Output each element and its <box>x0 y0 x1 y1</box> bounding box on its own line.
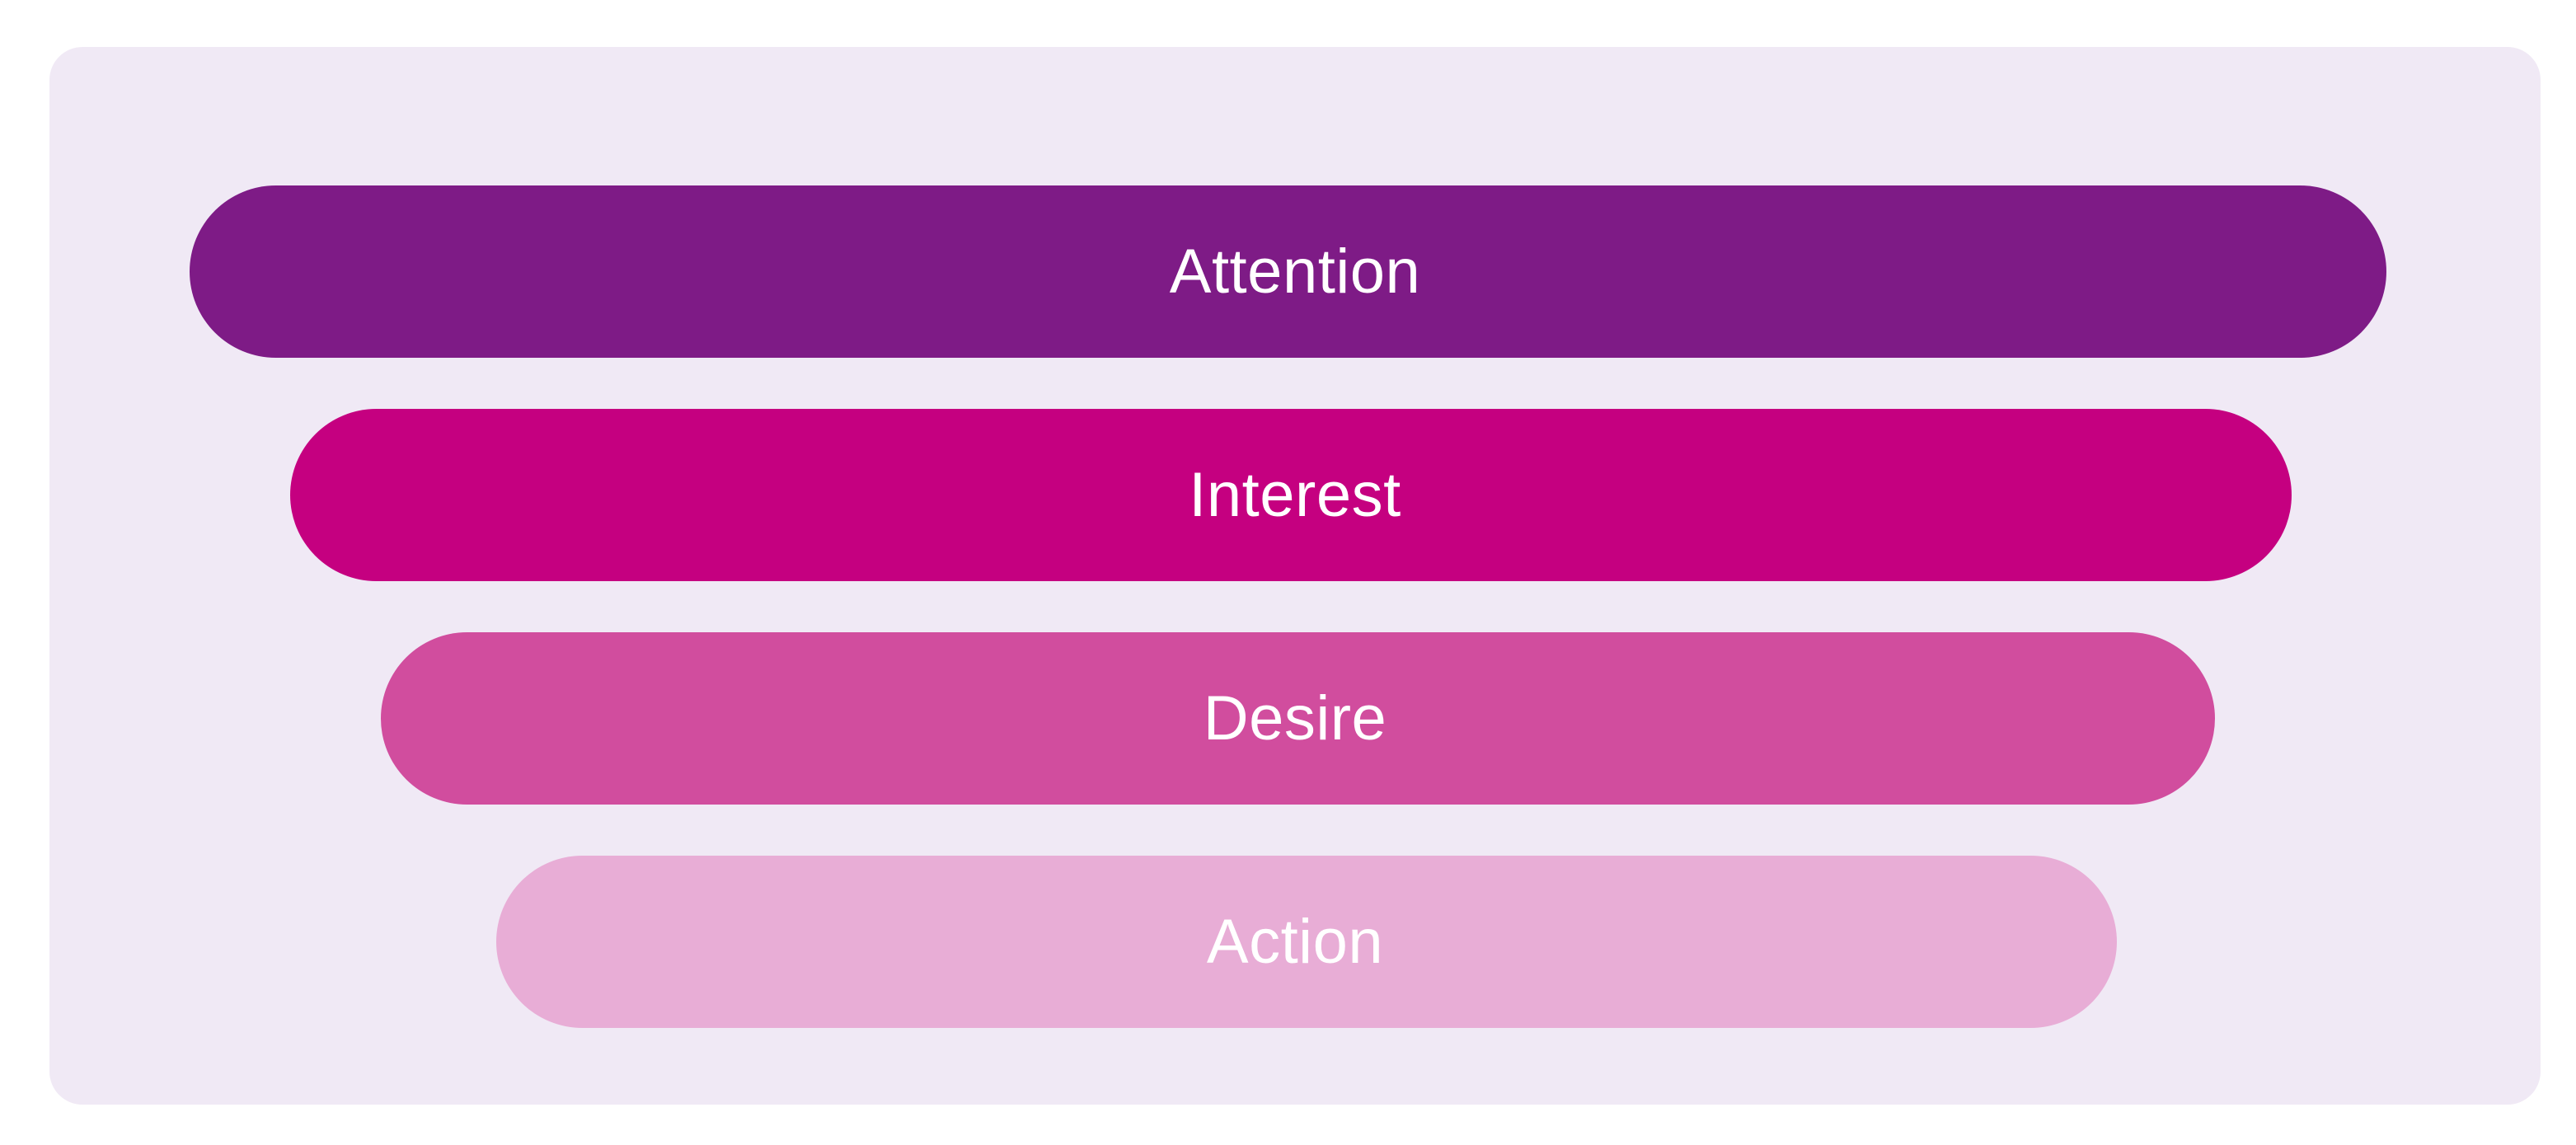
funnel-card: Attention Interest Desire Action <box>49 47 2541 1105</box>
funnel-stage-interest-label-wrap: Interest <box>49 409 2541 581</box>
funnel-stage-action-label: Action <box>1207 911 1383 974</box>
funnel-stage-interest-label: Interest <box>1189 464 1401 527</box>
funnel-stage-action[interactable]: Action <box>496 856 2117 1028</box>
funnel-stage-attention[interactable]: Attention <box>190 185 2386 358</box>
funnel-stage-desire-label: Desire <box>1204 687 1387 750</box>
funnel-stage-action-label-wrap: Action <box>49 856 2541 1028</box>
funnel-stage-desire-label-wrap: Desire <box>49 632 2541 805</box>
funnel-stage-attention-label: Attention <box>1170 241 1421 303</box>
funnel-diagram-canvas: Attention Interest Desire Action <box>0 0 2576 1145</box>
funnel-stage-attention-label-wrap: Attention <box>49 185 2541 358</box>
funnel-stage-interest[interactable]: Interest <box>290 409 2292 581</box>
funnel-stage-desire[interactable]: Desire <box>381 632 2215 805</box>
